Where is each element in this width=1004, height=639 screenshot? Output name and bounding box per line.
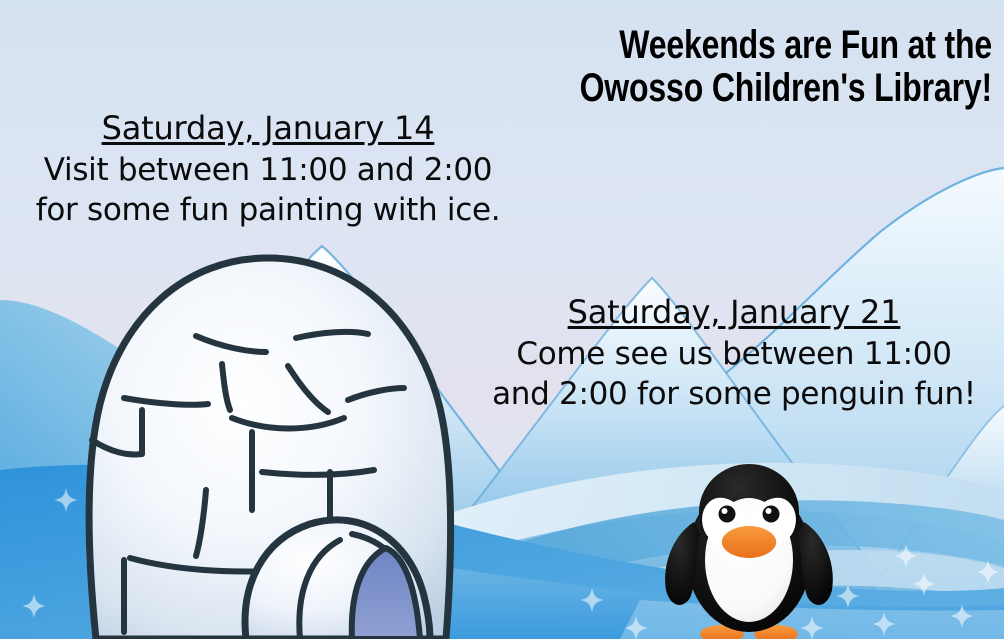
penguin-eye-right-glint xyxy=(766,508,772,514)
penguin-eye-left xyxy=(719,506,736,523)
penguin-eye-left-glint xyxy=(722,508,728,514)
event-line-2-january-14: for some fun painting with ice. xyxy=(8,190,528,230)
event-date-january-21: Saturday, January 21 xyxy=(466,292,1002,334)
headline-line-2: Owosso Children's Library! xyxy=(480,67,992,110)
event-block-january-14: Saturday, January 14 Visit between 11:00… xyxy=(8,108,528,230)
event-line-2-january-21: and 2:00 for some penguin fun! xyxy=(466,374,1002,414)
headline-line-1: Weekends are Fun at the xyxy=(480,24,992,67)
event-block-january-21: Saturday, January 21 Come see us between… xyxy=(466,292,1002,414)
event-line-1-january-14: Visit between 11:00 and 2:00 xyxy=(8,150,528,190)
penguin-eye-right xyxy=(763,506,780,523)
poster-canvas: Weekends are Fun at the Owosso Children'… xyxy=(0,0,1004,639)
event-line-1-january-21: Come see us between 11:00 xyxy=(466,334,1002,374)
page-title: Weekends are Fun at the Owosso Children'… xyxy=(480,24,992,110)
penguin-beak xyxy=(722,526,776,558)
igloo-illustration xyxy=(89,258,451,639)
event-date-january-14: Saturday, January 14 xyxy=(8,108,528,150)
